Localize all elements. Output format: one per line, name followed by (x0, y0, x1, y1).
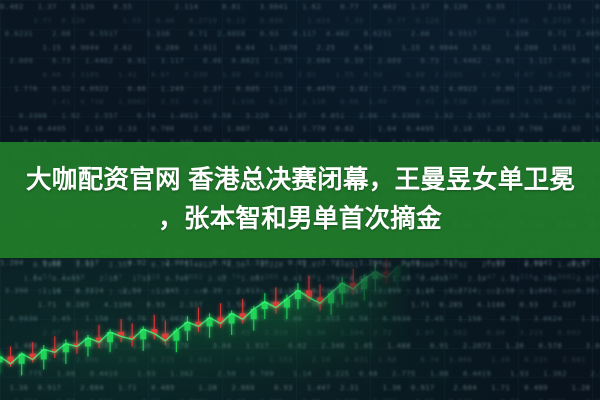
news-banner: 0.482 1.37 8.120 0.55 2.114 0.81 3.0041 … (0, 0, 600, 400)
headline-line-2: ，张本智和男单首次摘金 (20, 200, 580, 239)
headline-container: 大咖配资官网 香港总决赛闭幕，王曼昱女单卫冕 ，张本智和男单首次摘金 (20, 161, 580, 239)
page-title: 大咖配资官网 香港总决赛闭幕，王曼昱女单卫冕 ，张本智和男单首次摘金 (20, 161, 580, 239)
headline-band: 大咖配资官网 香港总决赛闭幕，王曼昱女单卫冕 ，张本智和男单首次摘金 (0, 142, 600, 258)
headline-line-1: 大咖配资官网 香港总决赛闭幕，王曼昱女单卫冕 (20, 161, 580, 200)
